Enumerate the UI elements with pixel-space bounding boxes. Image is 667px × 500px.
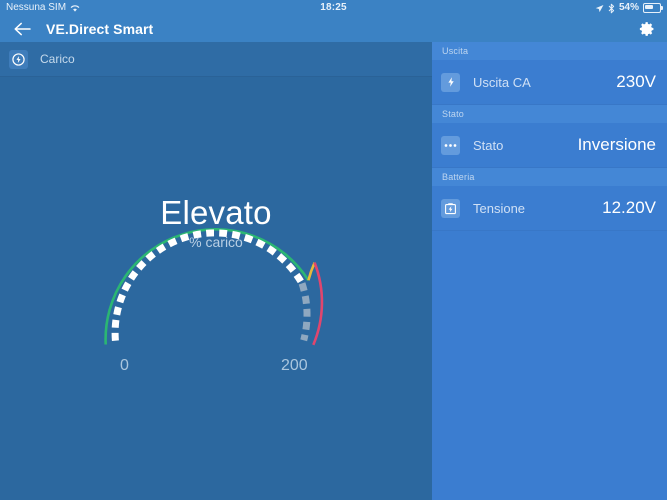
- back-arrow-icon: [14, 22, 31, 36]
- gauge-ticks-active: [115, 233, 302, 341]
- gauge-arc-graphic: [93, 154, 339, 364]
- section-header-label: Batteria: [442, 172, 475, 182]
- app-toolbar: VE.Direct Smart: [0, 16, 667, 42]
- status-bar: Nessuna SIM 18:25 54%: [0, 0, 667, 16]
- gauge-zone-red: [313, 263, 322, 345]
- load-header-row[interactable]: Carico: [0, 42, 432, 77]
- gauge-min-label: 0: [120, 357, 129, 375]
- row-label: Tensione: [473, 201, 602, 216]
- row-value: Inversione: [578, 135, 656, 155]
- ac-bolt-icon: [441, 73, 460, 92]
- row-stato[interactable]: Stato Inversione: [432, 123, 667, 168]
- load-header-label: Carico: [40, 52, 75, 66]
- gauge-zone-yellow: [308, 263, 314, 281]
- section-header-uscita: Uscita: [432, 42, 667, 60]
- battery-bolt-icon: [441, 199, 460, 218]
- load-gauge: Elevato % carico 0 200: [0, 76, 432, 356]
- section-header-label: Uscita: [442, 46, 468, 56]
- section-header-batteria: Batteria: [432, 168, 667, 186]
- status-bar-right: 54%: [595, 0, 661, 16]
- left-panel: Carico Elevato: [0, 42, 432, 500]
- status-bar-center: 18:25: [0, 0, 667, 16]
- gauge-ticks-inactive: [302, 283, 307, 340]
- row-value: 12.20V: [602, 198, 656, 218]
- section-header-label: Stato: [442, 109, 464, 119]
- app-root: Nessuna SIM 18:25 54%: [0, 0, 667, 500]
- clock-label: 18:25: [320, 0, 347, 16]
- load-bolt-icon: [9, 50, 28, 69]
- right-panel: Uscita Uscita CA 230V Stato Stat: [432, 42, 667, 500]
- row-value: 230V: [616, 72, 656, 92]
- row-label: Stato: [473, 138, 578, 153]
- gauge-zone-green: [106, 229, 309, 344]
- gear-icon: [639, 21, 655, 37]
- row-tensione[interactable]: Tensione 12.20V: [432, 186, 667, 231]
- back-button[interactable]: [0, 16, 44, 42]
- row-uscita-ca[interactable]: Uscita CA 230V: [432, 60, 667, 105]
- row-label: Uscita CA: [473, 75, 616, 90]
- battery-percent-label: 54%: [619, 0, 639, 16]
- gauge-max-label: 200: [281, 357, 308, 375]
- bluetooth-icon: [608, 3, 615, 14]
- location-arrow-icon: [595, 4, 604, 13]
- settings-button[interactable]: [627, 16, 667, 42]
- ellipsis-icon: [441, 136, 460, 155]
- battery-fill: [645, 5, 653, 9]
- page-title: VE.Direct Smart: [46, 21, 153, 37]
- battery-icon: [643, 3, 661, 13]
- section-header-stato: Stato: [432, 105, 667, 123]
